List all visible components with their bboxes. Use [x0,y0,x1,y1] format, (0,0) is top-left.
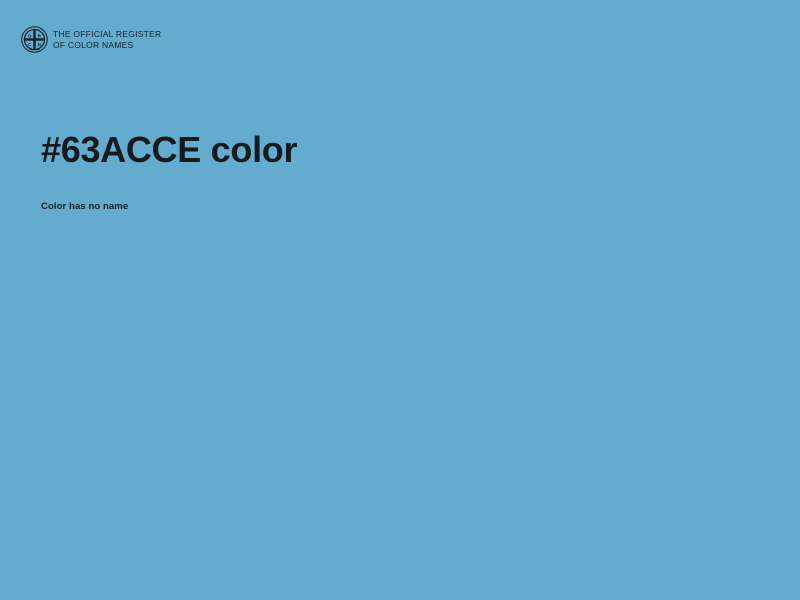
brand-wordmark-line-2: OF COLOR NAMES [53,40,161,51]
color-name-status: Color has no name [41,172,741,213]
svg-text:O: O [28,34,32,39]
svg-text:N: N [38,42,41,47]
color-info-block: #63ACCE color Color has no name [41,128,741,213]
svg-text:R: R [38,34,42,39]
svg-text:C: C [28,42,32,47]
brand-wordmark: THE OFFICIAL REGISTER OF COLOR NAMES [53,29,161,50]
register-seal-icon: O R C N [21,26,48,53]
page-title: #63ACCE color [41,128,741,172]
site-brand[interactable]: O R C N THE OFFICIAL REGISTER OF COLOR N… [21,26,161,53]
brand-wordmark-line-1: THE OFFICIAL REGISTER [53,29,161,40]
color-page: O R C N THE OFFICIAL REGISTER OF COLOR N… [0,0,800,600]
